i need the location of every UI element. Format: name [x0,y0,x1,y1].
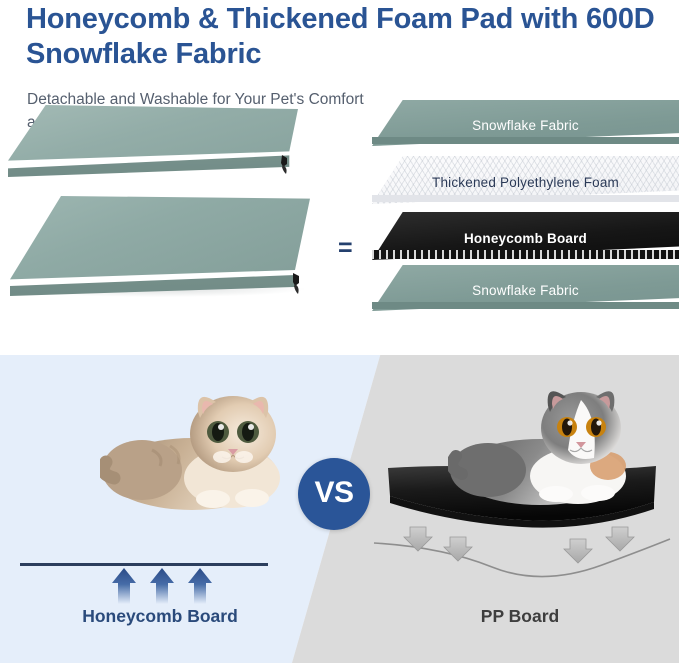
layer-label: Snowflake Fabric [472,118,579,133]
layer-label: Honeycomb Board [464,231,587,246]
layer-polyethylene-foam: Thickened Polyethylene Foam [372,156,679,204]
honeycomb-board-label: Honeycomb Board [0,606,320,627]
layer-snowflake-fabric-bottom: Snowflake Fabric [372,265,679,311]
layer-honeycomb-board: Honeycomb Board [372,212,679,260]
arrow-up-icon [112,568,136,604]
zipper-pull-icon [291,273,304,295]
cream-tabby-cat [100,382,300,517]
honeycomb-mat-illustration [8,105,298,183]
pad-top-face [10,196,310,282]
product-infographic: Honeycomb & Thickened Foam Pad with 600D… [0,0,679,663]
layer-edge [372,195,679,202]
equals-sign: = [338,234,353,263]
arrow-up-icon-group [110,566,230,604]
layer-edge [372,302,679,309]
layer-label: Snowflake Fabric [472,283,579,298]
arrow-down-icon [606,527,634,551]
arrow-up-icon [188,568,212,604]
assembled-pad-illustration [10,196,330,311]
wavy-sagging-line-group [372,525,672,615]
arrow-down-icon [564,539,592,563]
layer-label: Thickened Polyethylene Foam [432,175,619,190]
zipper-pull-icon [280,155,292,175]
mat-top-face [8,105,298,163]
page-title: Honeycomb & Thickened Foam Pad with 600D… [26,2,666,73]
vs-badge: VS [298,458,370,530]
layer-snowflake-fabric-top: Snowflake Fabric [372,100,679,146]
arrow-down-icon [444,537,472,561]
gray-white-cat [448,380,644,512]
arrow-up-icon [150,568,174,604]
vs-label: VS [314,476,353,510]
layer-edge [372,137,679,144]
arrow-down-icon [404,527,432,551]
pp-board-label: PP Board [360,606,679,627]
layer-edge-cells [372,250,679,259]
layer-stack-diagram: Snowflake Fabric Thickened Polyethylene … [372,100,679,310]
